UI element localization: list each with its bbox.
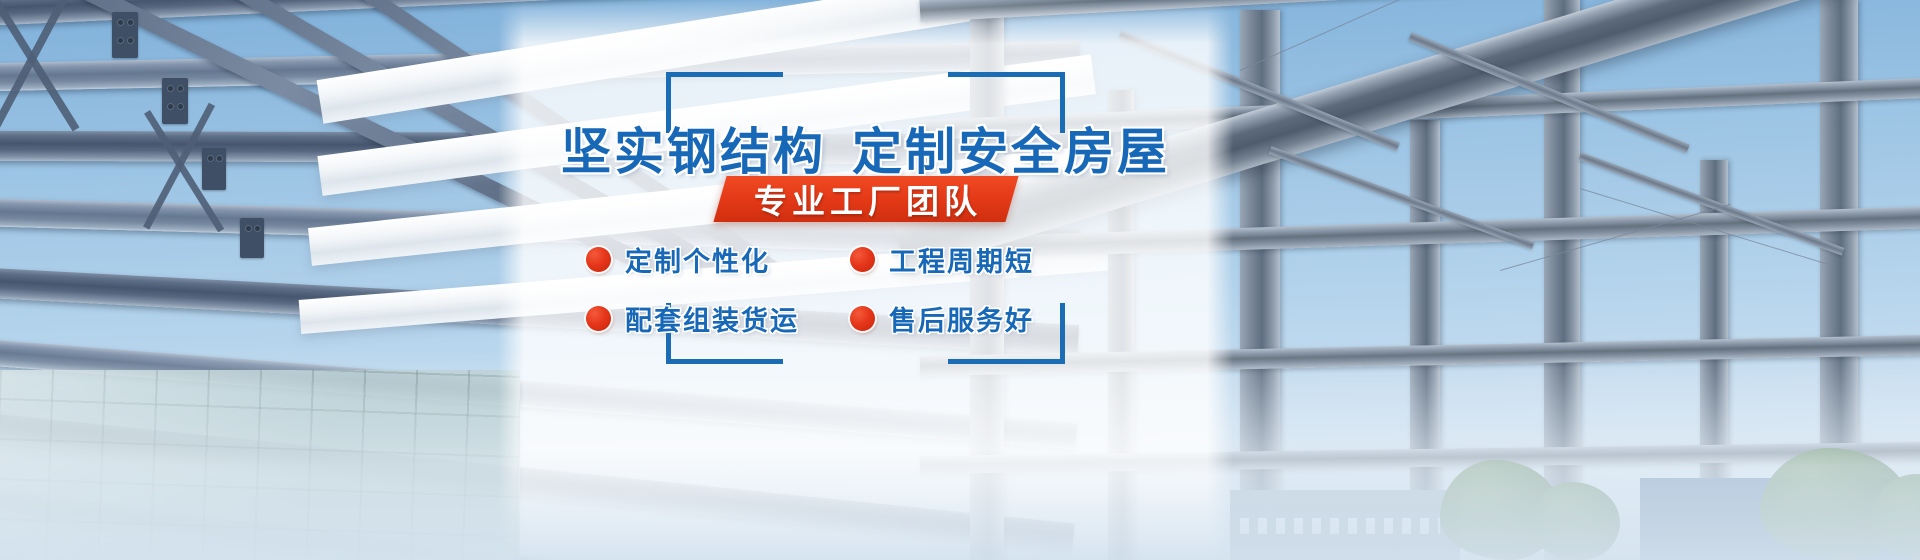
feature-label: 定制个性化 — [625, 240, 770, 279]
hero-banner: 坚实钢结构定制安全房屋 专业工厂团队 定制个性化 工程周期短 配套组装货运 售 — [0, 0, 1920, 560]
ribbon-container: 专业工厂团队 — [498, 176, 1233, 222]
feature-item: 售后服务好 — [850, 299, 1100, 338]
feature-item: 定制个性化 — [586, 240, 836, 279]
feature-list: 定制个性化 工程周期短 配套组装货运 售后服务好 — [586, 240, 1146, 338]
feature-label: 售后服务好 — [889, 299, 1034, 338]
feature-item: 工程周期短 — [850, 240, 1100, 279]
banner-content: 坚实钢结构定制安全房屋 专业工厂团队 定制个性化 工程周期短 配套组装货运 售 — [498, 0, 1233, 560]
feature-label: 工程周期短 — [889, 240, 1034, 279]
red-dot-icon — [850, 247, 875, 272]
feature-label: 配套组装货运 — [625, 299, 799, 338]
headline-part-1: 坚实钢结构 — [561, 124, 826, 180]
red-dot-icon — [586, 306, 611, 331]
professional-team-ribbon: 专业工厂团队 — [713, 176, 1018, 222]
ribbon-label: 专业工厂团队 — [754, 175, 982, 223]
red-dot-icon — [850, 306, 875, 331]
red-dot-icon — [586, 247, 611, 272]
feature-item: 配套组装货运 — [586, 299, 836, 338]
banner-headline: 坚实钢结构定制安全房屋 — [498, 112, 1233, 184]
headline-part-2: 定制安全房屋 — [852, 124, 1170, 180]
